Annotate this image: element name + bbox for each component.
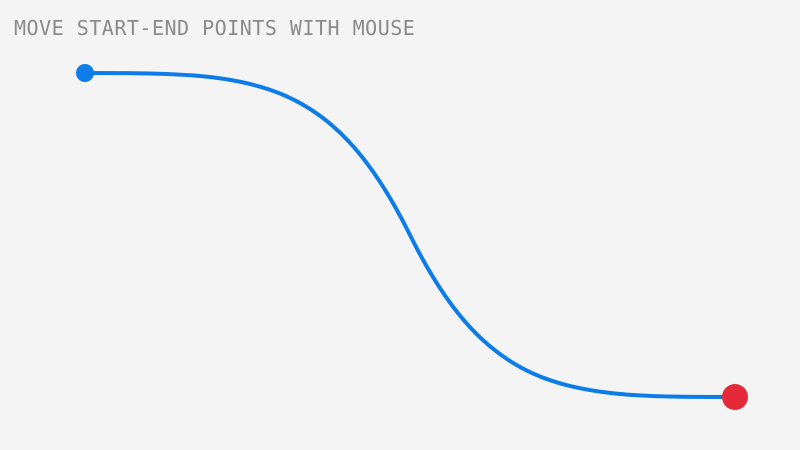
bezier-curve xyxy=(85,73,735,397)
curve-canvas[interactable] xyxy=(0,0,800,450)
canvas-root: MOVE START-END POINTS WITH MOUSE xyxy=(0,0,800,450)
start-point-handle[interactable] xyxy=(76,64,94,82)
end-point-handle[interactable] xyxy=(722,384,748,410)
